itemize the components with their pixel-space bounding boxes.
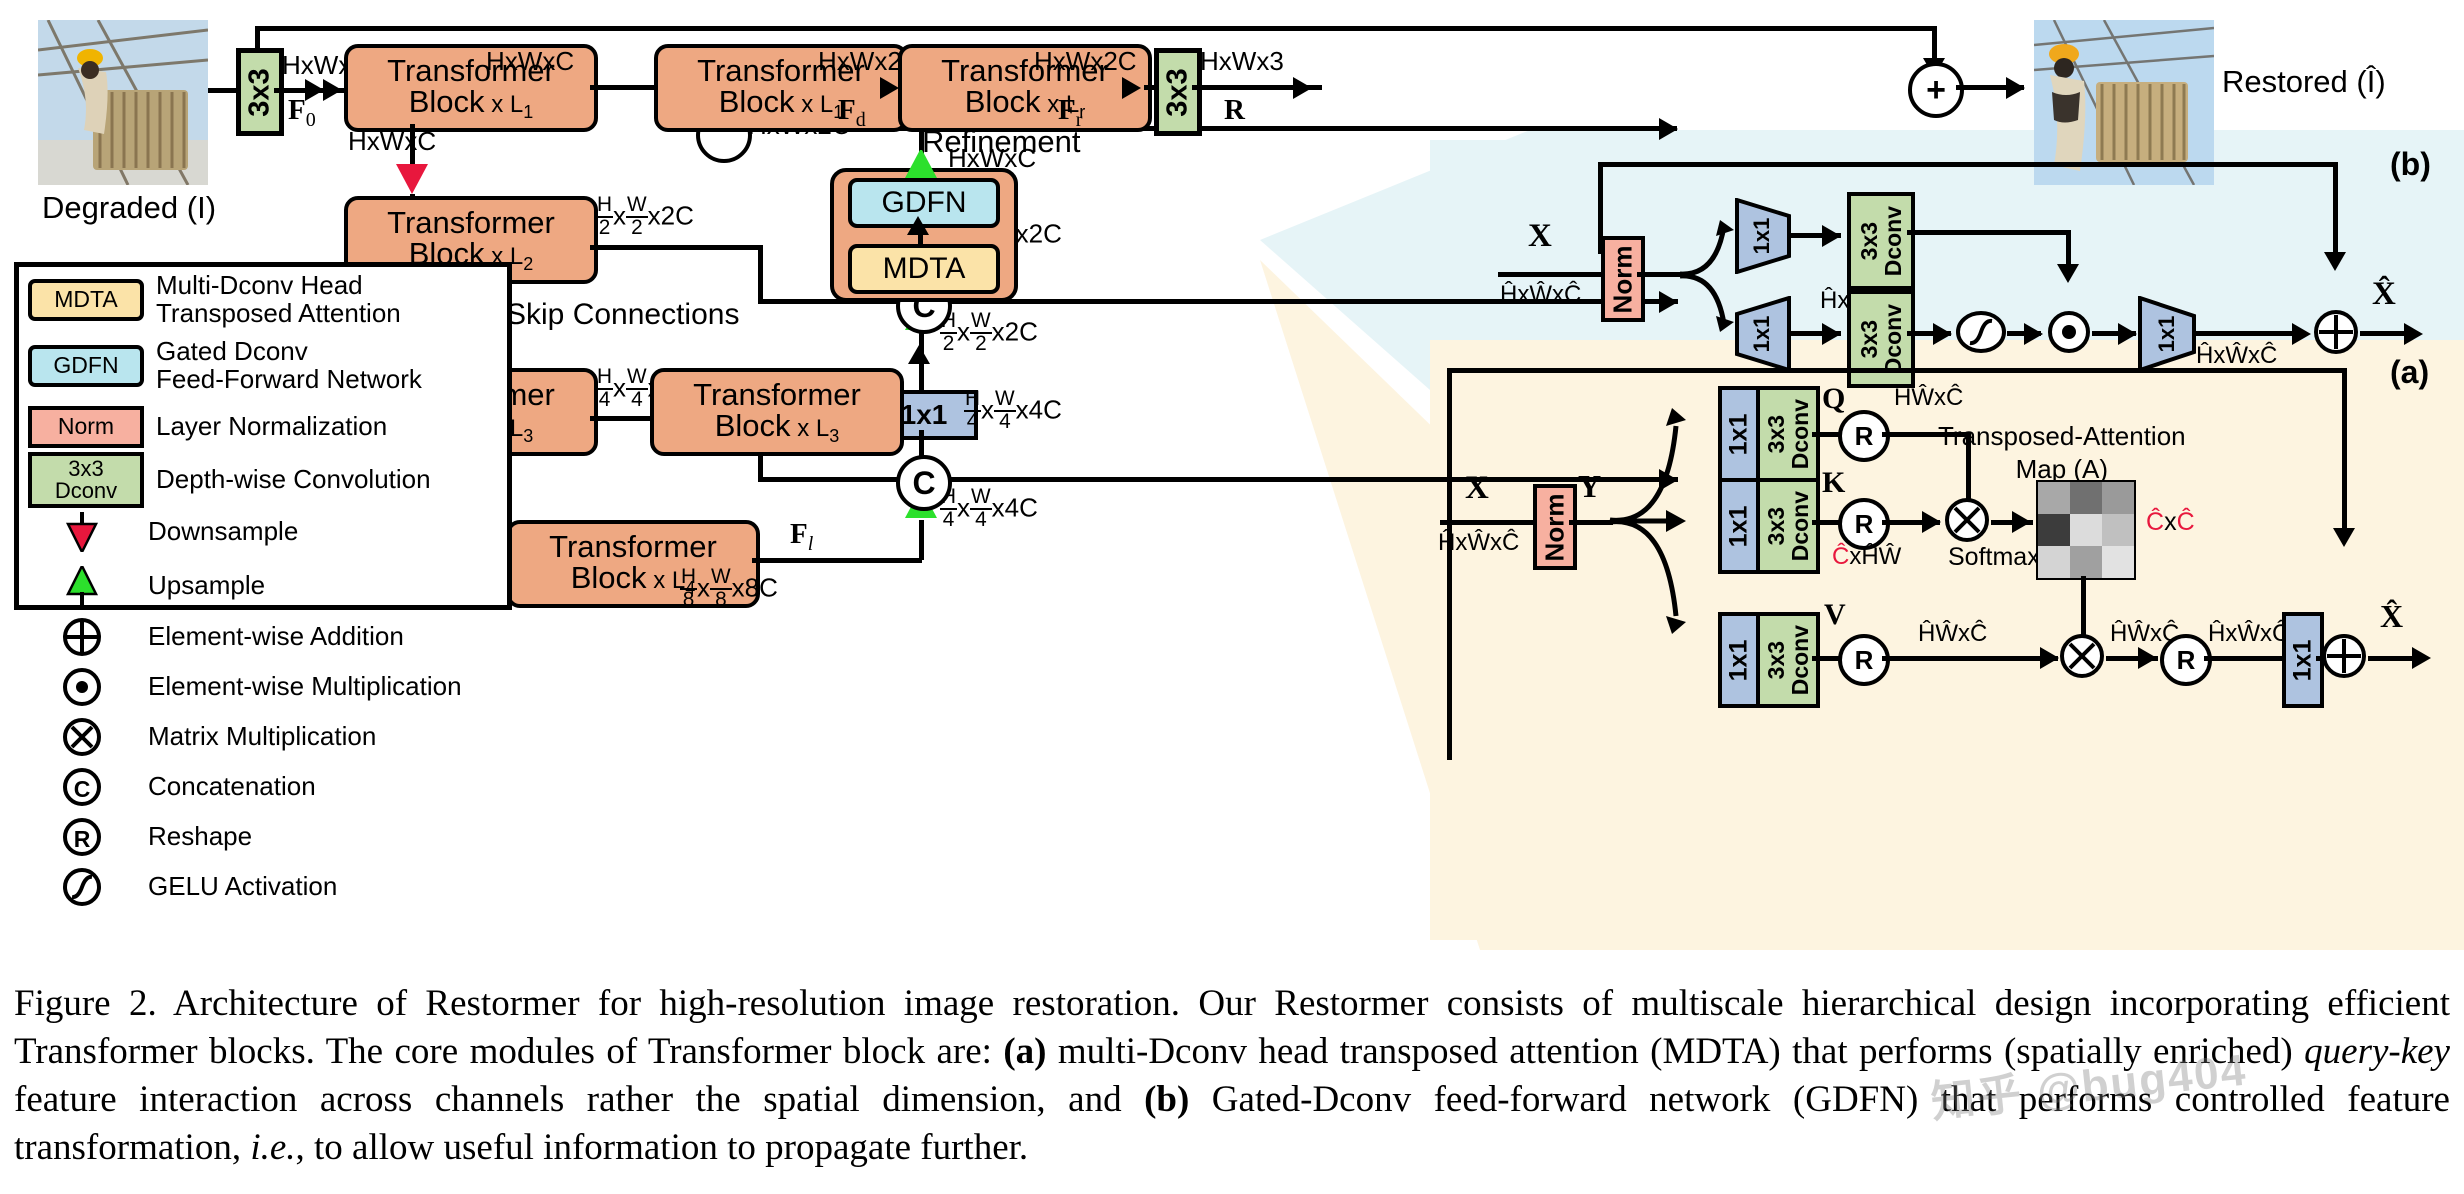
att-cell [2070, 514, 2102, 546]
panel-b-dconv-bot[interactable]: 3x3Dconv [1847, 290, 1915, 388]
c3-to-1x1 [919, 430, 924, 458]
decl1-to-refine-arrow [880, 77, 899, 99]
b-top-out-arrow [2057, 264, 2079, 283]
a-map-arrow [2012, 511, 2031, 533]
mdta-box[interactable]: MDTA [848, 244, 1000, 294]
dim-h2w2-2c-up: H2xW2x2C [940, 312, 1038, 356]
panel-a-conv1x1-k[interactable]: 1x1 [1718, 478, 1760, 574]
svg-text:1x1: 1x1 [1749, 218, 1774, 255]
mdta-label: MDTA [883, 252, 966, 286]
element-wise-multiplication-icon [61, 666, 103, 708]
l4-up-v [919, 520, 924, 560]
legend-chip-concat: C [28, 766, 136, 808]
gelu-activation-icon [61, 866, 103, 908]
legend-text-reshape: Reshape [148, 823, 252, 851]
b-res-h [1598, 162, 2338, 167]
b-res-arrow [2324, 252, 2346, 271]
legend-item-mdta: MDTA Multi-Dconv HeadTransposed Attentio… [28, 272, 401, 327]
legend-text-upsample: Upsample [148, 572, 265, 600]
att-cell [2038, 546, 2070, 578]
att-cell [2102, 482, 2134, 514]
a-res-h [1447, 368, 2347, 373]
panel-a-matmul-2 [2058, 632, 2106, 680]
refinement-label: Refinement [922, 126, 1081, 157]
dim-hwc-1: HxWxC [486, 48, 574, 74]
legend-chip-mdta: MDTA [28, 279, 144, 321]
restored-image [2034, 20, 2214, 185]
b-add-arrow [2292, 323, 2311, 345]
downsample-icon [64, 512, 100, 552]
a-res-v2 [2342, 368, 2347, 536]
legend-chip-matmul [28, 716, 136, 758]
global-skip-hline [255, 26, 1936, 31]
legend-item-concat: C Concatenation [28, 766, 316, 808]
b-gelu-arrow [1933, 323, 1952, 345]
refine-to-conv-arrow [1122, 77, 1141, 99]
a-split-curves [1606, 396, 1716, 646]
enc1-down-v [410, 124, 415, 166]
a-v-mm-arrow [2040, 647, 2059, 669]
panel-a-q-dim: ĤŴxĈ [1894, 386, 1963, 410]
global-add-icon: + [1908, 62, 1964, 118]
feat-fl: Fl [790, 520, 813, 554]
legend-chip-upsample [28, 566, 136, 606]
panel-b-mul-icon [2046, 309, 2092, 355]
skip-connections-label: Skip Connections [506, 300, 739, 330]
svg-text:R: R [74, 826, 91, 852]
decl3-up-v [919, 330, 924, 368]
b-in-line [1498, 272, 1606, 277]
reshape-icon: R [61, 816, 103, 858]
degraded-image [38, 20, 208, 185]
enc2-skip-h [590, 245, 762, 250]
panel-a-matmul-1 [1943, 496, 1991, 544]
a-in-line [1440, 520, 1536, 525]
panel-a-k-dim: ĈxĤŴ [1832, 545, 1901, 569]
panel-a-softmax: Softmax [1948, 545, 2040, 570]
legend-text-downsample: Downsample [148, 518, 298, 546]
enc1-skip-arrow [1659, 118, 1678, 140]
legend-item-upsample: Upsample [28, 566, 265, 606]
dec-l1-mult: x L1 [795, 91, 844, 118]
panel-a-map-title: Transposed-AttentionMap (A) [1938, 420, 2186, 485]
conv-to-enc1-arrow [323, 79, 342, 101]
att-cell [2102, 514, 2134, 546]
a-r-to-1x1 [2204, 656, 2282, 661]
b-mul-arrow [2024, 323, 2043, 345]
legend-item-norm: Norm Layer Normalization [28, 406, 387, 448]
panel-b-gelu-icon [1955, 309, 2007, 355]
a-res-arrow [2333, 528, 2355, 547]
att-cell [2070, 546, 2102, 578]
legend-chip-dconv: 3x3Dconv [28, 452, 144, 508]
conv-to-add-arrow [1293, 77, 1312, 99]
att-cell [2070, 482, 2102, 514]
b-1x1-to-add [2196, 331, 2306, 336]
conv1x1-dec-l3-label: 1x1 [901, 399, 948, 431]
legend-item-mul: Element-wise Multiplication [28, 666, 462, 708]
legend-item-reshape: R Reshape [28, 816, 252, 858]
degraded-label: Degraded (I) [42, 192, 216, 223]
feat-fr: Fr [1058, 96, 1082, 130]
panel-b-add-icon [2312, 308, 2360, 356]
panel-a-out-dim: ĤxŴxĈ [2208, 622, 2289, 646]
panel-b-output: X̂ [2372, 278, 2396, 311]
svg-text:1x1: 1x1 [2154, 316, 2179, 353]
dim-h8w8-8c-b: H8xW8x8C [680, 568, 778, 612]
panel-a-v-dim: ĤŴxĈ [1918, 622, 1987, 646]
svg-text:1x1: 1x1 [1749, 316, 1774, 353]
dim-h4w4-4c-up: H4xW4x4C [940, 488, 1038, 532]
legend-item-add: Element-wise Addition [28, 616, 404, 658]
element-wise-addition-icon [61, 616, 103, 658]
gdfn-label: GDFN [882, 186, 967, 220]
legend-item-gelu: GELU Activation [28, 866, 337, 908]
legend-item-downsample: Downsample [28, 512, 298, 552]
panel-b-conv1x1-out[interactable]: 1x1 [2138, 296, 2196, 372]
legend-chip-gelu [28, 866, 136, 908]
panel-a-dconv-k[interactable]: 3x3Dconv [1756, 478, 1820, 574]
enc2-skip-v [758, 245, 763, 302]
panel-b-input-dim: ĤxŴxĈ [1500, 283, 1581, 307]
b-1x1-arrow [2118, 323, 2137, 345]
panel-a-norm[interactable]: Norm [1533, 484, 1577, 570]
upsample-icon [64, 566, 100, 606]
panel-a-dconv-q[interactable]: 3x3Dconv [1756, 386, 1820, 482]
a-v-to-mm2 [1882, 656, 2058, 661]
legend-chip-mul [28, 666, 136, 708]
a-r-arrow [2138, 647, 2157, 669]
legend-item-gdfn: GDFN Gated DconvFeed-Forward Network [28, 338, 422, 393]
l4-out-h [752, 558, 922, 563]
conv3x3-output[interactable]: 3x3 [1154, 48, 1202, 136]
panel-a-input: X [1465, 472, 1489, 505]
a-k-mm-arrow [1922, 511, 1941, 533]
legend-text-matmul: Matrix Multiplication [148, 723, 376, 751]
mdta-to-gdfn-arrow [907, 216, 929, 235]
panel-a-output: X̂ [2380, 600, 2403, 632]
legend-text-mul: Element-wise Multiplication [148, 673, 462, 701]
panel-b-out-dim: ĤxŴxĈ [2196, 344, 2277, 368]
legend-chip-add [28, 616, 136, 658]
legend-chip-norm: Norm [28, 406, 144, 448]
legend-chip-gdfn: GDFN [28, 345, 144, 387]
panel-a-tag: (a) [2390, 356, 2429, 388]
panel-a-add-icon [2320, 632, 2368, 680]
panel-b-input: X [1528, 220, 1552, 253]
feat-r: R [1224, 96, 1245, 125]
attention-map [2036, 480, 2136, 580]
downsample-1-icon [396, 164, 428, 194]
panel-a-dconv-v[interactable]: 3x3Dconv [1756, 612, 1820, 708]
conv3x3-output-label: 3x3 [1162, 68, 1195, 116]
dim-hw3: HxWx3 [1200, 48, 1284, 74]
legend-text-gdfn: Gated DconvFeed-Forward Network [156, 338, 422, 393]
dim-h2w2-2c-a: H2xW2x2C [596, 196, 694, 240]
dec-l3-mult: x L3 [791, 415, 840, 442]
panel-b-norm[interactable]: Norm [1601, 236, 1645, 322]
b-bot-arrow [1822, 323, 1841, 345]
panel-a-v: V [1824, 600, 1846, 630]
legend-item-matmul: Matrix Multiplication [28, 716, 376, 758]
att-cell [2038, 514, 2070, 546]
panel-a-q: Q [1822, 384, 1845, 414]
feat-f0: F0 [288, 96, 316, 130]
panel-b-tag: (b) [2390, 148, 2431, 180]
legend-text-mdta: Multi-Dconv HeadTransposed Attention [156, 272, 401, 327]
dim-hwc-2: HxWxC [348, 128, 436, 154]
panel-a-y: Y [1578, 470, 1601, 502]
dim-h4w4-4c-b: H4xW4x4C [964, 390, 1062, 434]
panel-a-map-dim: ĈxĈ [2146, 510, 2195, 535]
panel-a-conv1x1-q[interactable]: 1x1 [1718, 386, 1760, 482]
legend-chip-downsample [28, 512, 136, 552]
att-cell [2102, 546, 2134, 578]
panel-b-conv1x1-top[interactable]: 1x1 [1735, 198, 1791, 274]
a-out-arrow [2412, 647, 2431, 669]
restored-label: Restored (Î) [2222, 66, 2386, 97]
concatenation-icon: C [61, 766, 103, 808]
panel-b-conv1x1-bot[interactable]: 1x1 [1735, 296, 1791, 372]
legend-text-gelu: GELU Activation [148, 873, 337, 901]
b-res-v2 [2333, 162, 2338, 260]
panel-a-conv1x1-v[interactable]: 1x1 [1718, 612, 1760, 708]
b-out-arrow [2404, 323, 2423, 345]
legend-text-add: Element-wise Addition [148, 623, 404, 651]
dim-hw2c-fr: HxWx2C [1034, 48, 1137, 74]
legend-text-norm: Layer Normalization [156, 413, 387, 441]
b-top-arrow [1822, 225, 1841, 247]
decoder-block-l3[interactable]: Transformer Block x L3 [650, 368, 904, 456]
concat-l3-icon: C [896, 455, 952, 511]
matrix-multiplication-icon [61, 716, 103, 758]
legend-chip-reshape: R [28, 816, 136, 858]
conv3x3-input-label: 3x3 [244, 68, 277, 116]
panel-a-input-dim: ĤxŴxĈ [1438, 531, 1519, 555]
add-to-out-arrow [2006, 77, 2025, 99]
b-top-out-h [1907, 230, 2070, 235]
feat-fd: Fd [838, 96, 866, 130]
a-res-v1 [1447, 368, 1452, 760]
legend-text-concat: Concatenation [148, 773, 316, 801]
svg-text:C: C [74, 776, 91, 802]
panel-b-dconv-top[interactable]: 3x3Dconv [1847, 192, 1915, 290]
legend-item-dconv: 3x3Dconv Depth-wise Convolution [28, 452, 431, 508]
att-cell [2038, 482, 2070, 514]
enc-l1-mult: x L1 [485, 91, 534, 118]
legend-text-dconv: Depth-wise Convolution [156, 466, 431, 494]
panel-a-k: K [1822, 468, 1845, 498]
